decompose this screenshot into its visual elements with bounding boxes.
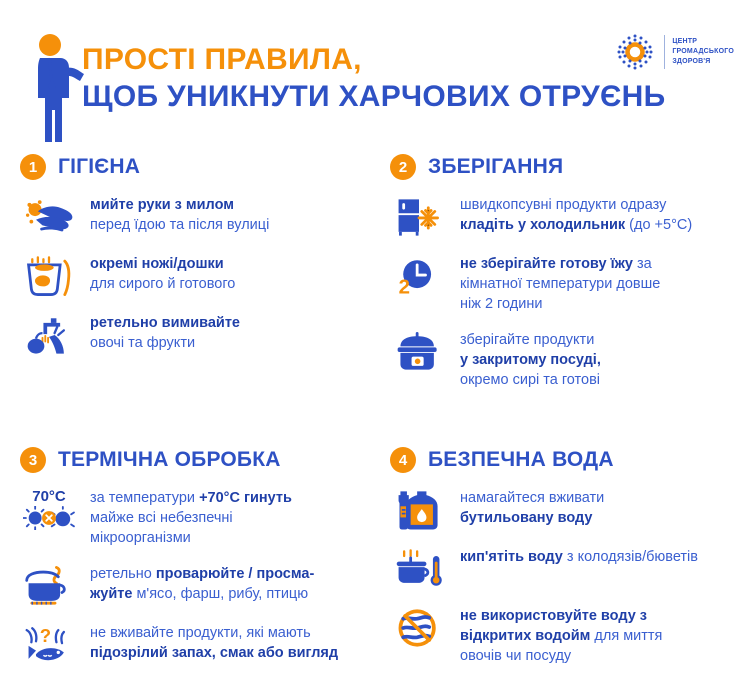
item-line-1: зберігайте продукти [460,332,594,348]
cutting-board-knife-icon [20,253,78,297]
logo-text-line-2: ГРОМАДСЬКОГО [672,47,734,57]
svg-text:?: ? [40,625,51,646]
item-line-2: кімнатної температури довше [460,276,660,292]
section-header: 2 ЗБЕРІГАННЯ [390,154,736,180]
item-bold-1: кип'ятіть воду [460,549,563,565]
item-text: за температури +70°C гинуть майже всі не… [90,487,292,548]
item-line-1: не вживайте продукти, які мають [90,625,311,641]
section-heat-treatment: 3 ТЕРМІЧНА ОБРОБКА 70°C [20,405,390,681]
list-item: мийте руки з милом перед їдою та після в… [20,194,390,238]
item-text: мийте руки з милом перед їдою та після в… [90,194,269,235]
item-line-2: для сирого й готового [90,276,235,292]
item-line-1: швидкопсувні продукти одразу [460,197,666,213]
section-items: мийте руки з милом перед їдою та після в… [20,194,390,371]
item-text: не використовуйте воду з відкритих водой… [460,605,662,666]
suspicious-fish-icon: ? [20,622,78,666]
section-header: 1 ГІГІЄНА [20,154,390,180]
item-text: окремі ножі/дошки для сирого й готового [90,253,235,294]
section-header: 3 ТЕРМІЧНА ОБРОБКА [20,447,390,473]
item-bold-2: кладіть у холодильник [460,217,625,233]
item-line-2-post: для миття [590,628,662,644]
item-line-1: ретельно [90,566,156,582]
organization-logo: ЦЕНТР ГРОМАДСЬКОГО ЗДОРОВ'Я [613,30,734,74]
logo-text-line-1: ЦЕНТР [672,37,734,47]
list-item: 70°C за температури +70°C гинуть [20,487,390,548]
item-text: не зберігайте готову їжу за кімнатної те… [460,253,660,314]
section-title: ЗБЕРІГАННЯ [428,155,563,179]
section-title: ТЕРМІЧНА ОБРОБКА [58,448,281,472]
list-item: 2 не зберігайте готову їжу за кімнатної … [390,253,736,314]
title-line-1: ПРОСТІ ПРАВИЛА, [82,42,665,77]
item-bold-1: не зберігайте готову їжу [460,256,633,272]
bottled-water-icon [390,487,448,531]
page-title: ПРОСТІ ПРАВИЛА, ЩОБ УНИКНУТИ ХАРЧОВИХ ОТ… [82,42,665,115]
list-item: ретельно проварюйте / просма- жуйте м'яс… [20,563,390,607]
item-text: ретельно проварюйте / просма- жуйте м'яс… [90,563,314,604]
item-text: зберігайте продукти у закритому посуді, … [460,329,601,390]
item-bold-1: окремі ножі/дошки [90,256,224,272]
item-bold-1: +70°C гинуть [199,490,292,506]
item-bold-1: мийте руки з милом [90,197,234,213]
sections-grid: 1 ГІГІЄНА мийте руки з милом [0,150,756,681]
no-open-water-icon [390,605,448,649]
item-line-1: намагайтеся вживати [460,490,604,506]
clock-two-hours-icon: 2 [390,253,448,297]
section-number-badge: 1 [20,154,46,180]
item-line-2-post: (до +5°C) [625,217,692,233]
item-text: намагайтеся вживати бутильовану воду [460,487,604,528]
item-line-2: овочі та фрукти [90,335,195,351]
item-bold-2: підозрілий запах, смак або вигляд [90,645,338,661]
section-title: БЕЗПЕЧНА ВОДА [428,448,614,472]
faucet-vegetables-icon [20,312,78,356]
covered-pot-icon [390,329,448,373]
steaming-pot-icon [20,563,78,607]
section-title: ГІГІЄНА [58,155,140,179]
item-line-1-rest: за [633,256,652,272]
section-number-badge: 2 [390,154,416,180]
item-line-1-rest: з колодязів/бюветів [563,549,698,565]
temperature-label: 70°C [32,489,66,504]
item-bold-1: проварюйте / просма- [156,566,314,582]
section-items: 70°C за температури +70°C гинуть [20,487,390,681]
item-line-2-post: м'ясо, фарш, рибу, птицю [132,586,308,602]
list-item: ретельно вимивайте овочі та фрукти [20,312,390,356]
logo-divider [664,35,665,69]
item-line-1: за температури [90,490,199,506]
header: ПРОСТІ ПРАВИЛА, ЩОБ УНИКНУТИ ХАРЧОВИХ ОТ… [0,0,756,150]
item-bold-2: бутильовану воду [460,510,592,526]
item-line-3: мікроорганізми [90,530,191,546]
list-item: зберігайте продукти у закритому посуді, … [390,329,736,390]
item-text: ретельно вимивайте овочі та фрукти [90,312,240,353]
hands-washing-soap-icon [20,194,78,238]
item-text: кип'ятіть воду з колодязів/бюветів [460,546,698,567]
item-bold-1: не використовуйте воду з [460,608,647,624]
list-item: намагайтеся вживати бутильовану воду [390,487,736,531]
section-items: швидкопсувні продукти одразу кладіть у х… [390,194,736,405]
item-line-2: перед їдою та після вулиці [90,217,269,233]
list-item: швидкопсувні продукти одразу кладіть у х… [390,194,736,238]
section-items: намагайтеся вживати бутильовану воду [390,487,736,681]
list-item: окремі ножі/дошки для сирого й готового [20,253,390,297]
list-item: не використовуйте воду з відкритих водой… [390,605,736,666]
item-bold-2: відкритих водойм [460,628,590,644]
section-header: 4 БЕЗПЕЧНА ВОДА [390,447,736,473]
item-text: швидкопсувні продукти одразу кладіть у х… [460,194,692,235]
section-safe-water: 4 БЕЗПЕЧНА ВОДА намагайтес [390,405,736,681]
item-line-2: майже всі небезпечні [90,510,233,526]
title-line-2: ЩОБ УНИКНУТИ ХАРЧОВИХ ОТРУЄНЬ [82,79,665,114]
refrigerator-snowflake-icon [390,194,448,238]
germs-temperature-icon: 70°C [20,487,78,530]
public-health-center-logo-mark [613,30,657,74]
item-line-3: ніж 2 години [460,296,542,312]
item-bold-2: жуйте [90,586,132,602]
section-hygiene: 1 ГІГІЄНА мийте руки з милом [20,150,390,405]
section-storage: 2 ЗБЕРІГАННЯ [390,150,736,405]
item-text: не вживайте продукти, які мають підозріл… [90,622,338,663]
item-line-3: окремо сирі та готові [460,372,600,388]
boiling-pot-thermometer-icon [390,546,448,590]
list-item: кип'ятіть воду з колодязів/бюветів [390,546,736,590]
item-bold-1: ретельно вимивайте [90,315,240,331]
section-number-badge: 4 [390,447,416,473]
svg-text:2: 2 [399,277,410,297]
list-item: ? не вживайте продукти, які мають підозр… [20,622,390,666]
logo-text-line-3: ЗДОРОВ'Я [672,57,734,67]
item-bold-2: у закритому посуді, [460,352,601,368]
section-number-badge: 3 [20,447,46,473]
logo-text: ЦЕНТР ГРОМАДСЬКОГО ЗДОРОВ'Я [672,37,734,67]
